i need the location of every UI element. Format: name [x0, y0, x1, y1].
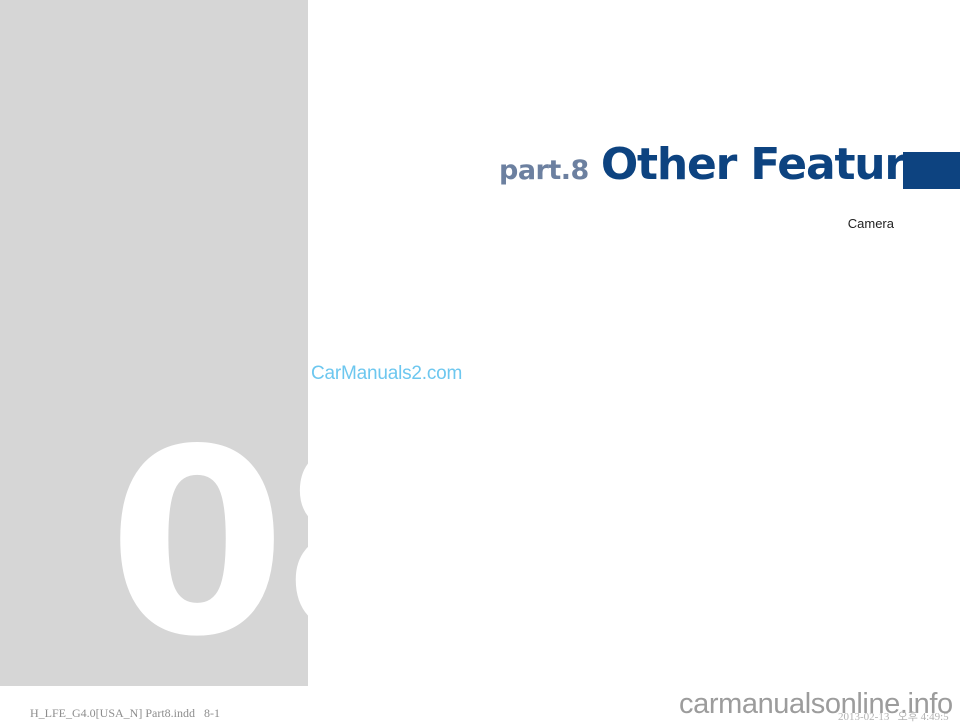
chapter-number: 08 [108, 416, 308, 672]
watermark-center: CarManuals2.com [311, 363, 462, 385]
manual-page: 08 part.8 Other Features Camera CarManua… [0, 0, 960, 724]
part-label: part.8 [499, 155, 589, 186]
section-list-item-camera: Camera [600, 215, 894, 233]
footer-timestamp: 2013-02-13 오후 4:49:5 [838, 708, 949, 724]
section-list: Camera [600, 215, 894, 233]
chapter-band: 08 [0, 0, 308, 686]
heading-accent-block [903, 152, 960, 189]
footer-file-info: H_LFE_G4.0[USA_N] Part8.indd 8-1 [30, 706, 220, 721]
part-heading: part.8 Other Features [499, 143, 959, 187]
